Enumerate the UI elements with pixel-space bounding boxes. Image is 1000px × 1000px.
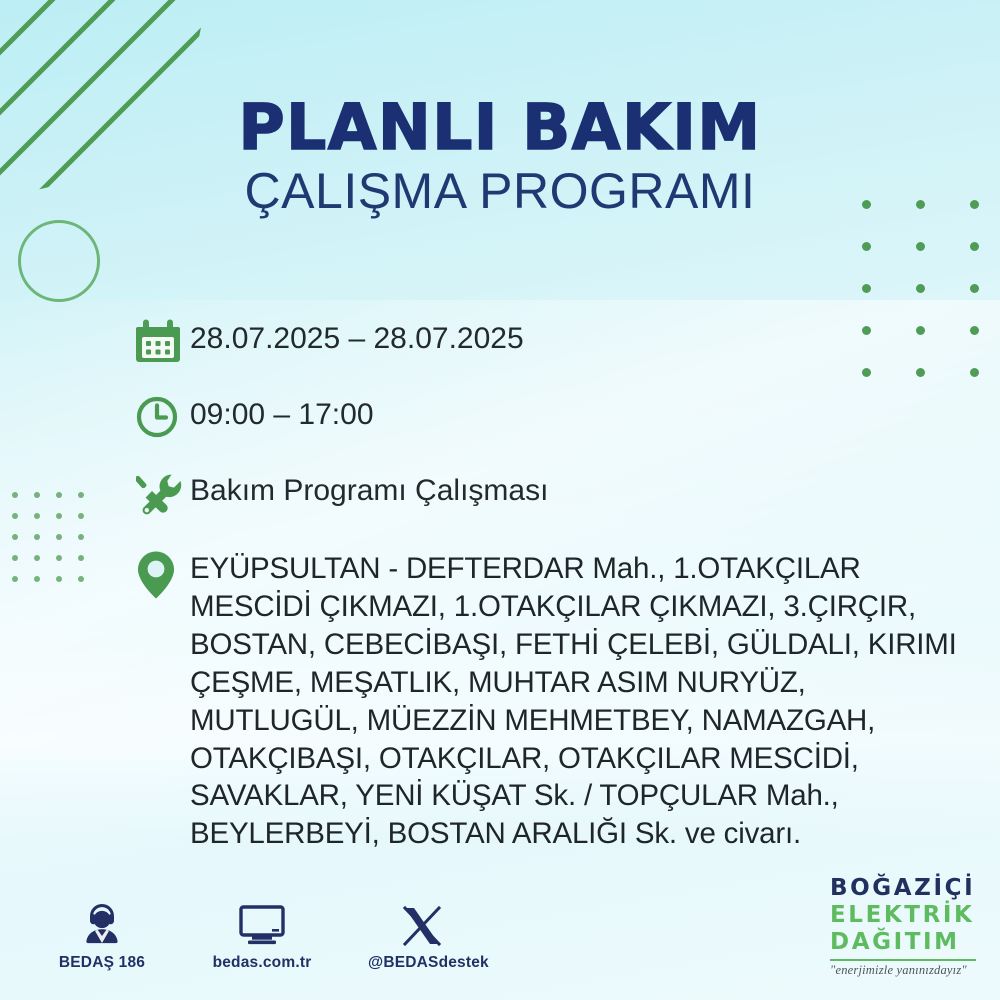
maintenance-work-type: Bakım Programı Çalışması — [190, 468, 548, 510]
page-subtitle: ÇALIŞMA PROGRAMI — [0, 165, 1000, 218]
detail-row-address: EYÜPSULTAN - DEFTERDAR Mah., 1.OTAKÇILAR… — [136, 546, 966, 853]
footer-label-website: bedas.com.tr — [208, 954, 316, 972]
calendar-icon — [136, 316, 190, 370]
footer-contact-strip: BEDAŞ 186 bedas.com.tr — [48, 901, 476, 972]
brand-logo: BOĞAZİÇİ ELEKTRİK DAĞITIM "enerjimizle y… — [830, 877, 976, 977]
detail-row-time: 09:00 – 17:00 — [136, 392, 966, 446]
detail-row-date: 28.07.2025 – 28.07.2025 — [136, 316, 966, 370]
maintenance-time-range: 09:00 – 17:00 — [190, 392, 374, 434]
circle-decoration — [18, 220, 100, 302]
tools-icon — [136, 468, 190, 522]
page-title: PLANLI BAKIM — [0, 96, 1000, 159]
poster-title-block: PLANLI BAKIM ÇALIŞMA PROGRAMI — [0, 96, 1000, 218]
affected-address-list: EYÜPSULTAN - DEFTERDAR Mah., 1.OTAKÇILAR… — [190, 546, 957, 853]
location-pin-icon — [136, 546, 190, 602]
footer-item-x-account[interactable]: @BEDASdestek — [368, 901, 476, 972]
clock-icon — [136, 392, 190, 446]
brand-line-bogazici: BOĞAZİÇİ — [830, 877, 976, 900]
brand-line-elektrik: ELEKTRİK — [830, 904, 976, 927]
maintenance-details: 28.07.2025 – 28.07.2025 09:00 – 17:00 — [136, 316, 966, 869]
footer-item-call-center[interactable]: BEDAŞ 186 — [48, 901, 156, 972]
brand-tagline: "enerjimizle yanınızdayız" — [830, 964, 976, 977]
footer-label-x-account: @BEDASdestek — [368, 954, 476, 972]
planned-maintenance-poster: PLANLI BAKIM ÇALIŞMA PROGRAMI — [0, 0, 1000, 1000]
maintenance-date-range: 28.07.2025 – 28.07.2025 — [190, 316, 524, 358]
brand-divider — [830, 959, 976, 961]
footer-label-call-center: BEDAŞ 186 — [48, 954, 156, 972]
footer-item-website[interactable]: bedas.com.tr — [208, 901, 316, 972]
call-center-agent-icon — [48, 901, 156, 947]
brand-line-dagitim: DAĞITIM — [830, 931, 976, 954]
detail-row-work-type: Bakım Programı Çalışması — [136, 468, 966, 522]
dot-grid-left-decoration — [12, 492, 100, 597]
monitor-icon — [208, 901, 316, 947]
x-twitter-icon — [368, 901, 476, 947]
